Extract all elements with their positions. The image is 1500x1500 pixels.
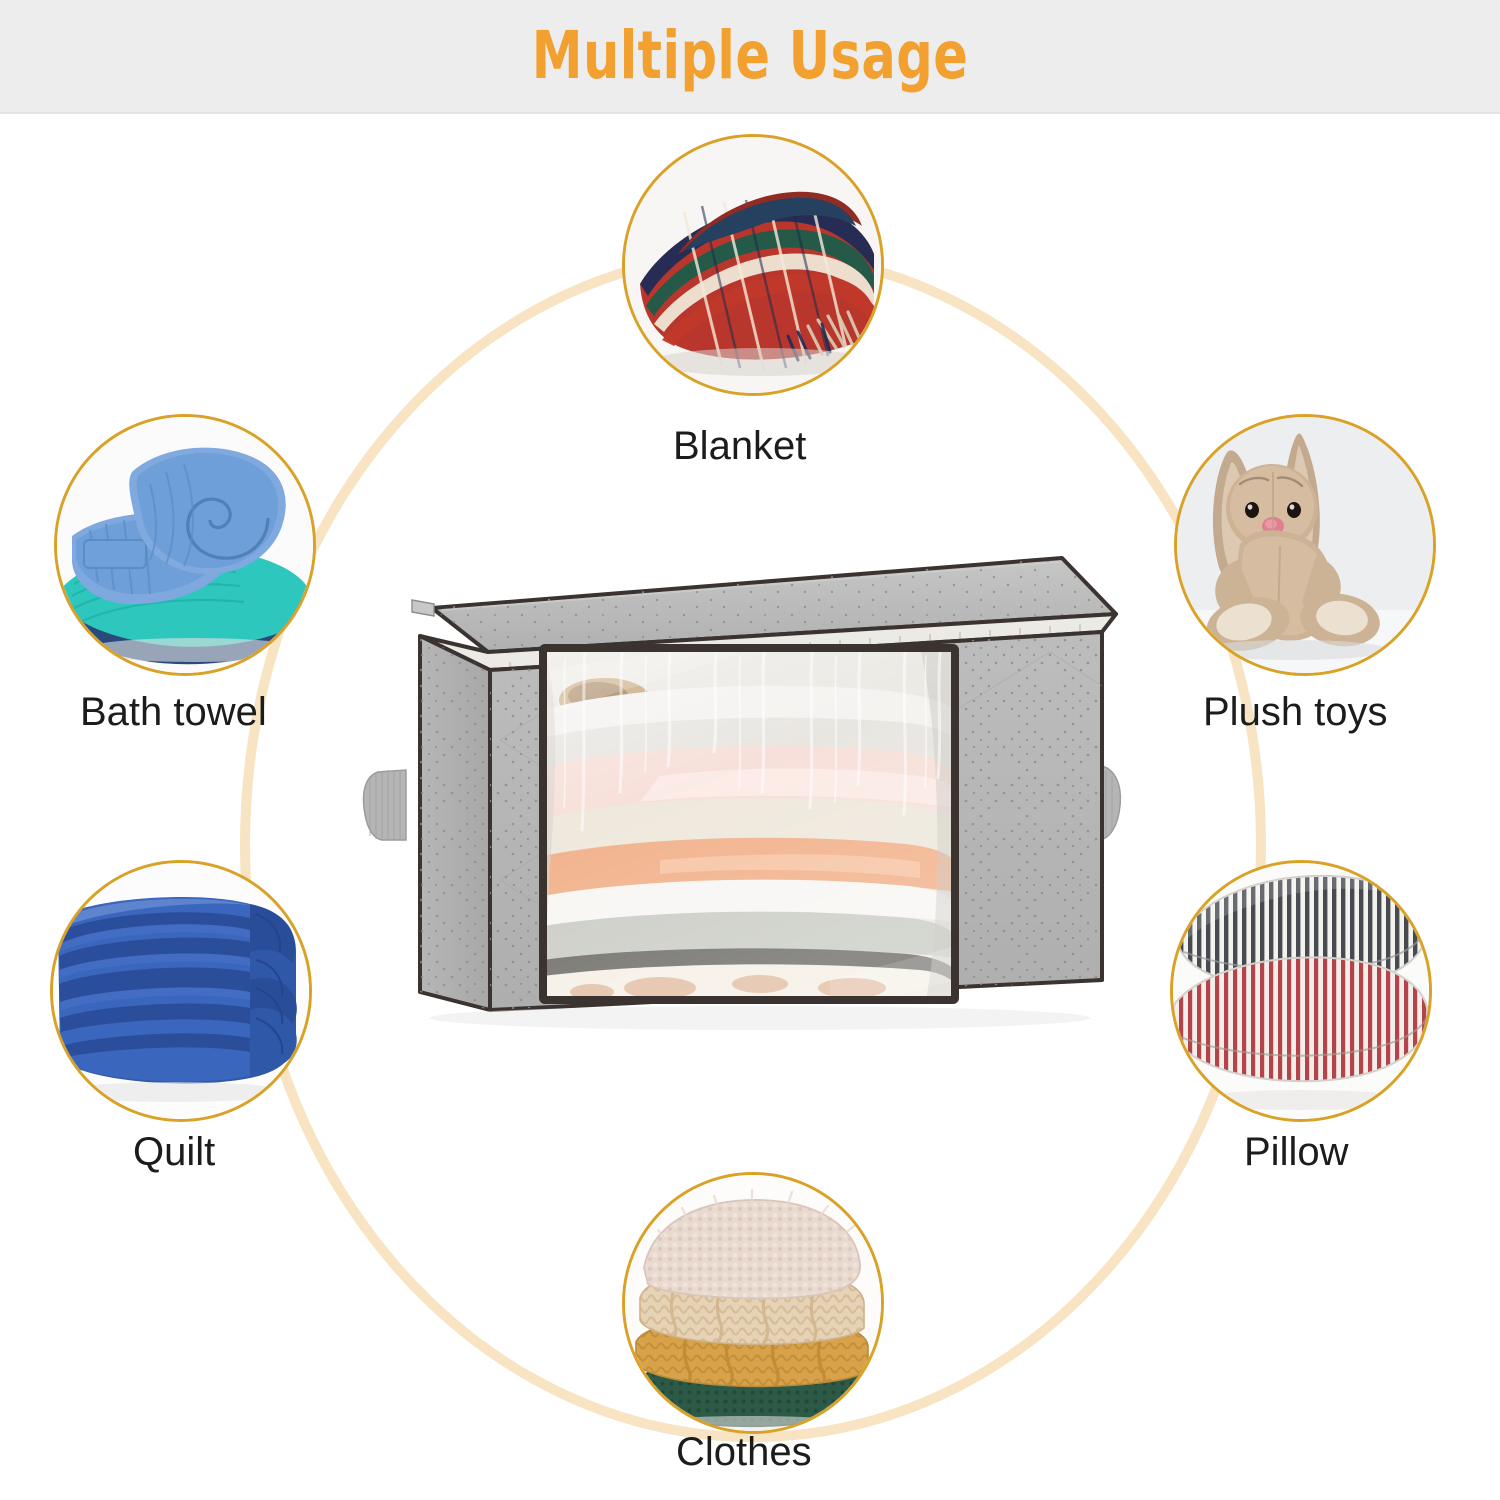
caption-pillow: Pillow: [1244, 1130, 1348, 1174]
stacked-towels-icon: [54, 414, 316, 676]
plaid-blanket-icon: [622, 134, 884, 396]
caption-plush-toys: Plush toys: [1203, 690, 1388, 734]
stacked-sweaters-icon: [622, 1172, 884, 1434]
bubble-plush-toys[interactable]: [1174, 414, 1436, 676]
infographic-canvas: Multiple Usage: [0, 0, 1500, 1500]
plush-bunny-icon: [1174, 414, 1436, 676]
bubble-blanket[interactable]: [622, 134, 884, 396]
striped-pillows-icon: [1170, 860, 1432, 1122]
bubble-bath-towel[interactable]: [54, 414, 316, 676]
caption-quilt: Quilt: [133, 1130, 215, 1174]
folded-quilt-icon: [50, 860, 312, 1122]
bubble-clothes[interactable]: [622, 1172, 884, 1434]
storage-bag-illustration: [360, 540, 1150, 1040]
caption-blanket: Blanket: [673, 424, 806, 468]
page-title: Multiple Usage: [105, 17, 1395, 95]
bubble-pillow[interactable]: [1170, 860, 1432, 1122]
bubble-quilt[interactable]: [50, 860, 312, 1122]
caption-clothes: Clothes: [676, 1430, 812, 1474]
caption-bath-towel: Bath towel: [80, 690, 267, 734]
storage-bag-product[interactable]: [360, 540, 1150, 1040]
